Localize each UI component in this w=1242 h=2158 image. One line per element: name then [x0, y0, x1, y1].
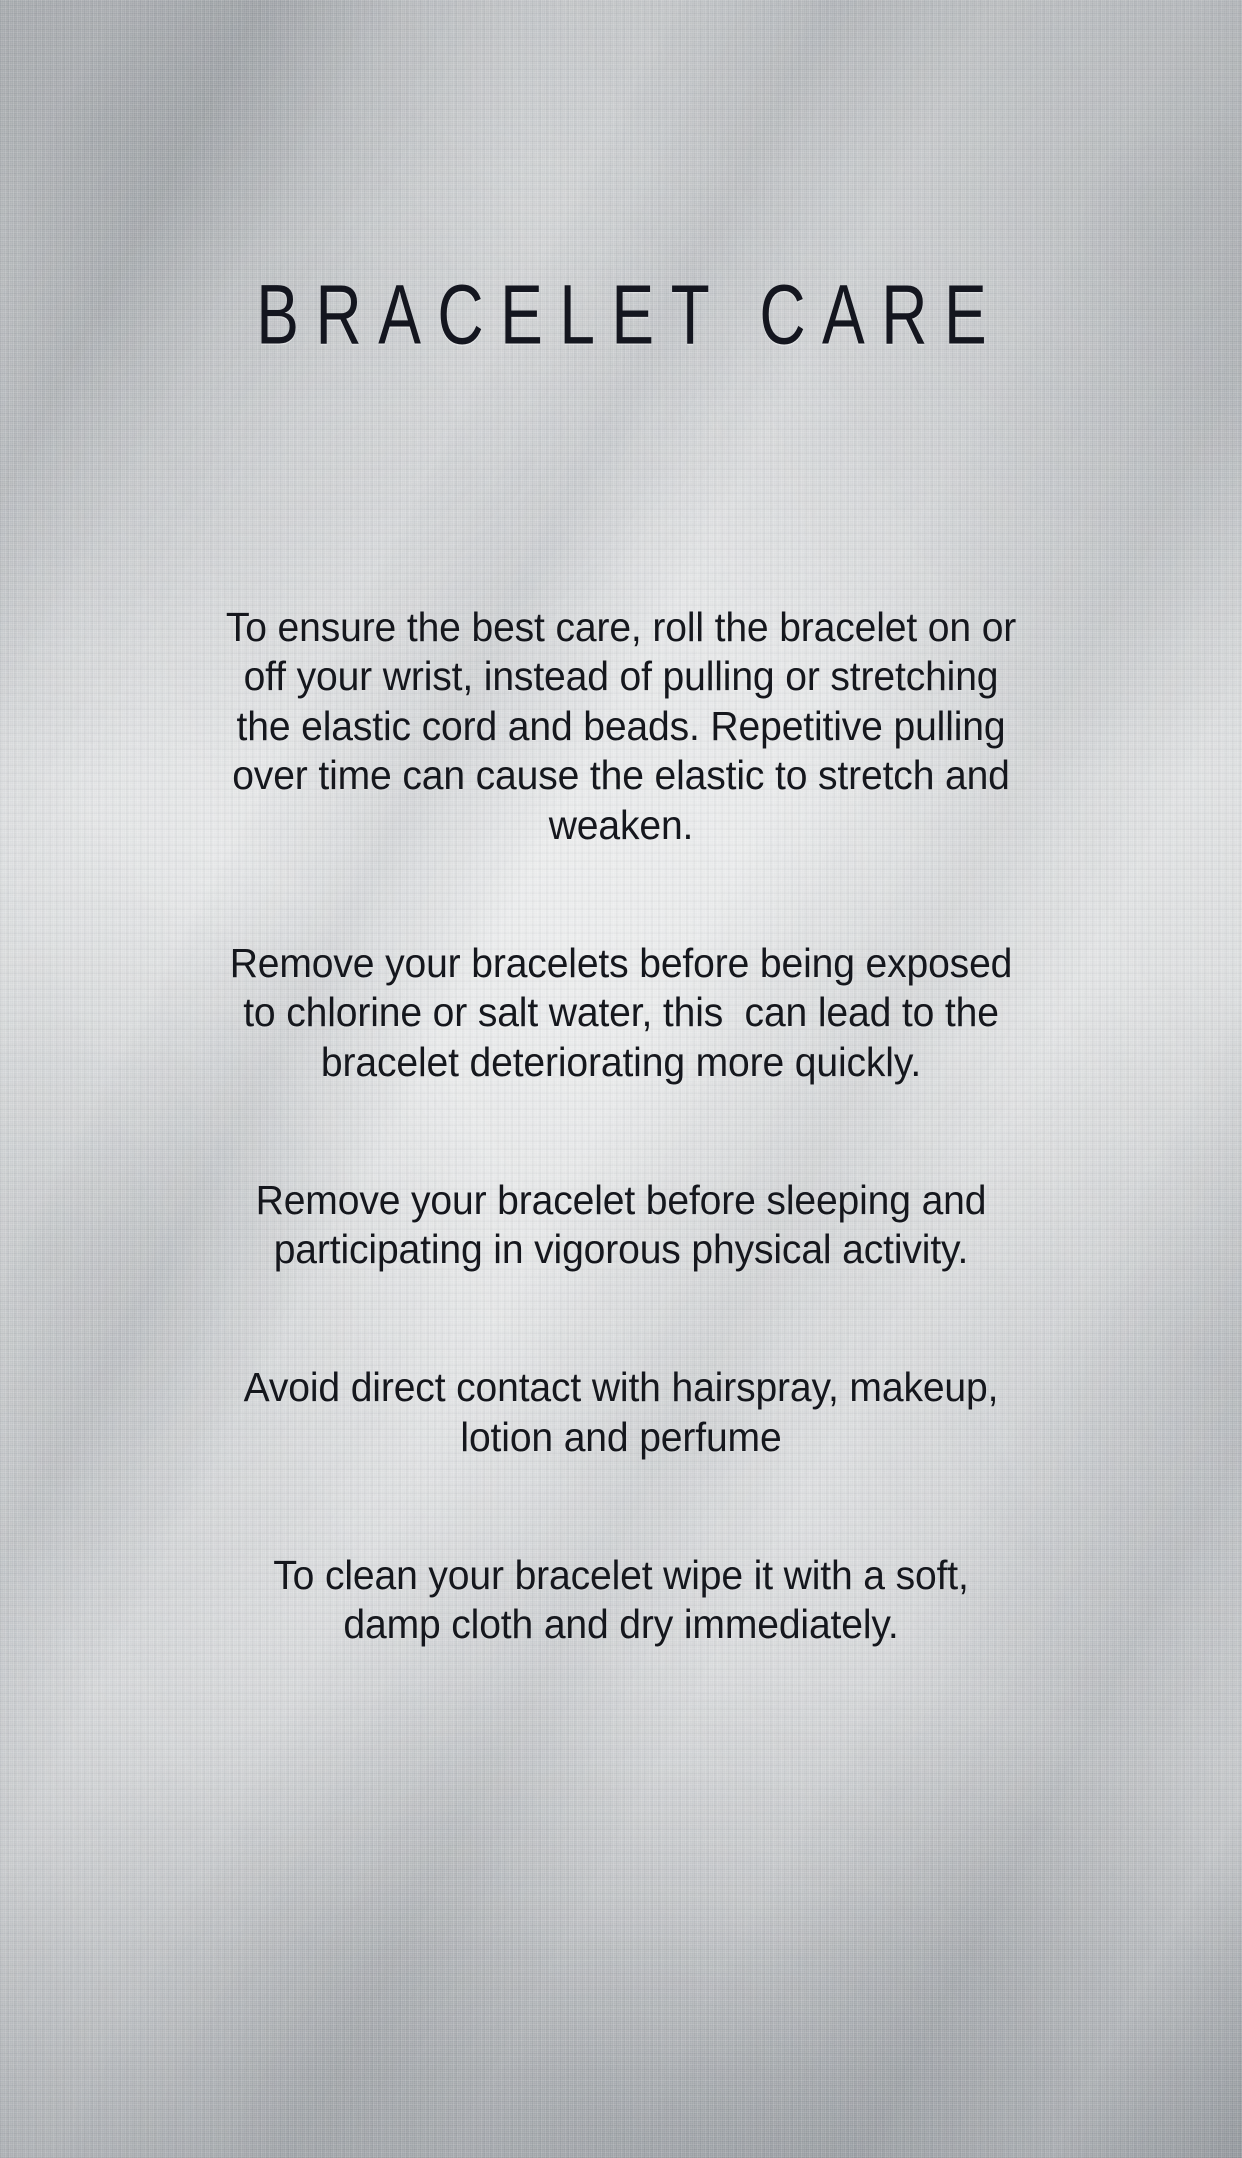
care-instruction-chlorine-salt-water: Remove your bracelets before being expos… [221, 939, 1022, 1088]
care-instruction-cleaning: To clean your bracelet wipe it with a so… [221, 1551, 1022, 1650]
bracelet-care-card: BRACELET CARE To ensure the best care, r… [0, 0, 1242, 2158]
page-title: BRACELET CARE [239, 272, 1002, 356]
care-instruction-rolling-on-off: To ensure the best care, roll the bracel… [221, 603, 1022, 851]
card-content: BRACELET CARE To ensure the best care, r… [0, 0, 1242, 2158]
care-instructions-list: To ensure the best care, roll the bracel… [206, 562, 1036, 1690]
care-instruction-cosmetics: Avoid direct contact with hairspray, mak… [221, 1363, 1022, 1462]
care-instruction-sleep-and-activity: Remove your bracelet before sleeping and… [221, 1176, 1022, 1275]
